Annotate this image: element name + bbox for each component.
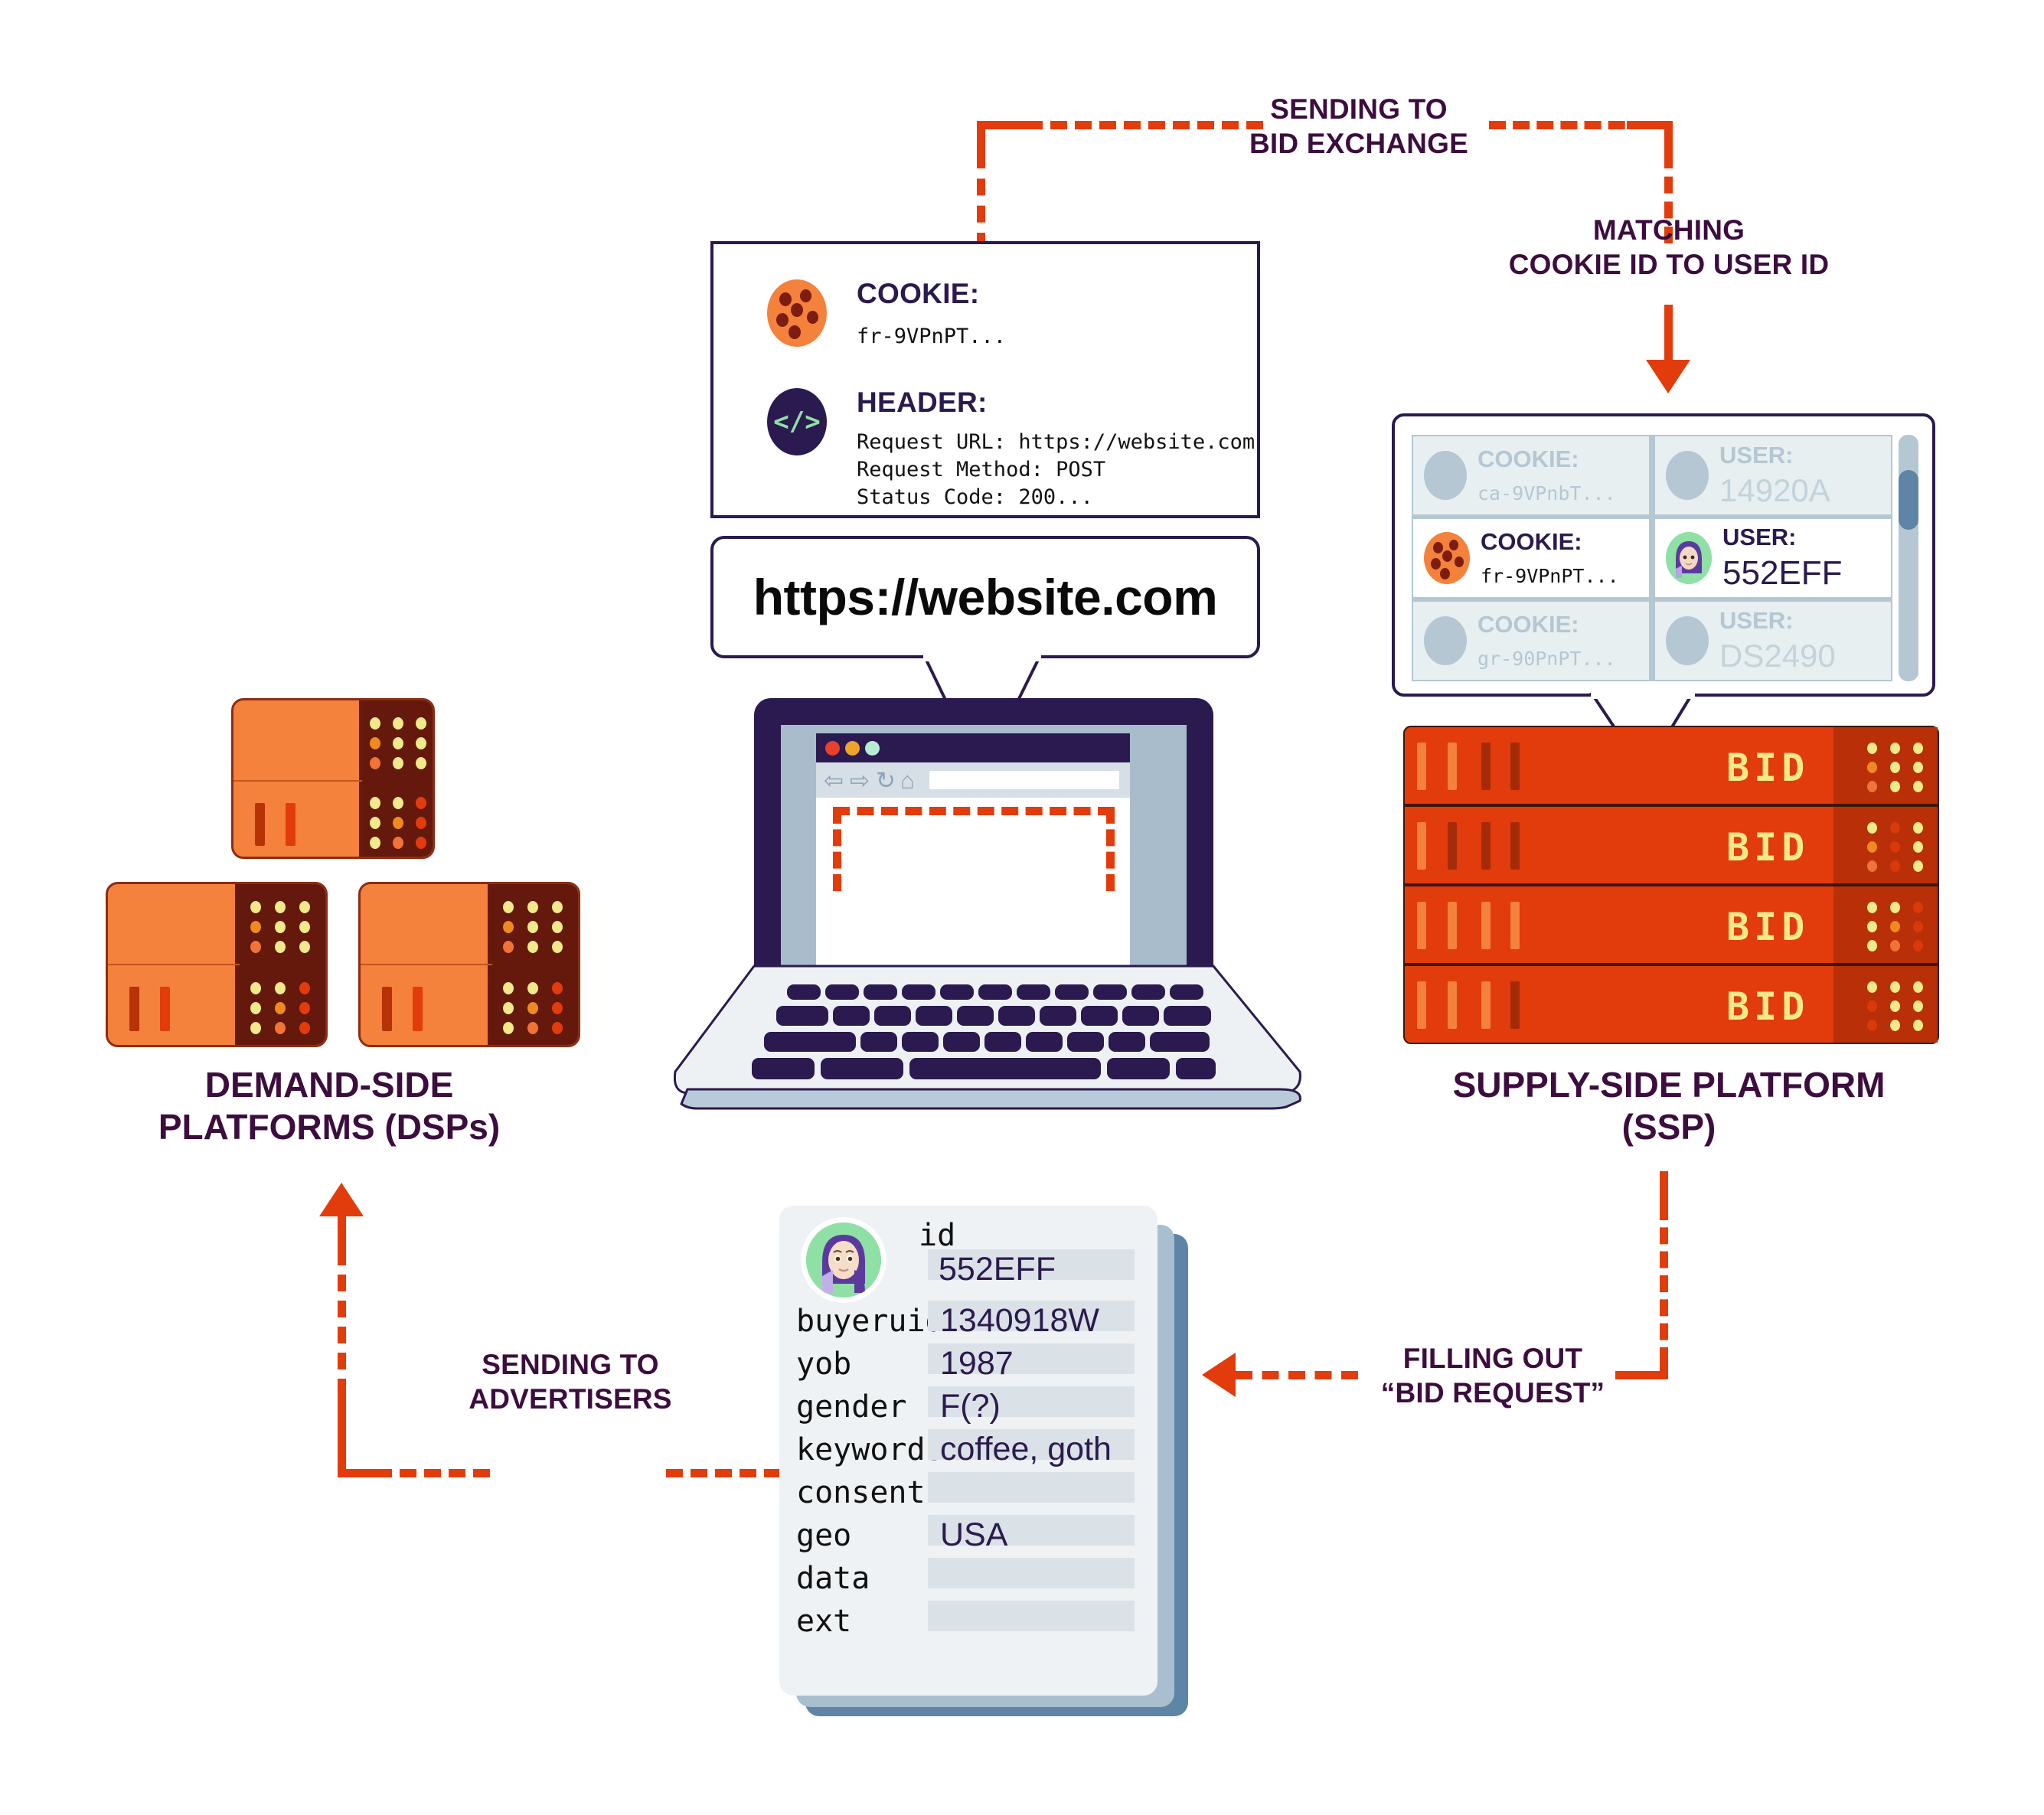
bid-request-key-data: data xyxy=(796,1563,870,1594)
bid-request-value-geo: USA xyxy=(940,1519,1007,1552)
bid-request-key-geo: geo xyxy=(796,1520,851,1551)
label-sending-to-bid-exchange: SENDING TO BID EXCHANGE xyxy=(1248,92,1470,161)
url-speech-bubble: https://website.com xyxy=(710,536,1260,658)
cookie-value: fr-9VPnPT... xyxy=(857,323,1006,351)
arrow-advertisers-up xyxy=(319,1183,364,1216)
flow-line-bidexchange-h1 xyxy=(1026,121,1263,129)
match-table-scrollbar-thumb[interactable] xyxy=(1899,470,1918,530)
traffic-light-minimize-icon[interactable] xyxy=(845,741,860,756)
label-filling-out-bid-request: FILLING OUT “BID REQUEST” xyxy=(1370,1341,1615,1410)
match-cell-user-row3[interactable]: USER: DS2490 xyxy=(1655,602,1891,680)
dsp-server[interactable] xyxy=(358,882,580,1047)
label-sending-to-advertisers: SENDING TO ADVERTISERS xyxy=(425,1347,716,1416)
bid-request-value-yob: 1987 xyxy=(940,1347,1014,1380)
match-label-cookie: COOKIE: xyxy=(1477,447,1616,472)
cookie-title: COOKIE: xyxy=(857,279,1006,308)
cookie-icon xyxy=(1424,532,1470,584)
ssp-server-row[interactable]: BID xyxy=(1403,885,1939,965)
label-line-1: SENDING TO xyxy=(425,1347,716,1382)
bid-request-avatar xyxy=(801,1217,886,1303)
ssp-server-row[interactable]: BID xyxy=(1403,965,1939,1044)
match-value-cookie: ca-9VPnbT... xyxy=(1477,484,1616,504)
user-placeholder-icon xyxy=(1666,616,1709,665)
match-cell-user-row1[interactable]: USER: 14920A xyxy=(1655,436,1891,514)
bid-request-slot-data xyxy=(928,1558,1135,1588)
arrow-match-down xyxy=(1646,360,1690,393)
label-line-2: ADVERTISERS xyxy=(425,1382,716,1416)
match-label-user: USER: xyxy=(1722,525,1843,550)
ssp-caption-line-1: SUPPLY-SIDE PLATFORM xyxy=(1370,1064,1967,1106)
ad-slot-selection xyxy=(833,807,1115,891)
traffic-light-maximize-icon[interactable] xyxy=(865,741,880,756)
back-icon[interactable]: ⇦ xyxy=(824,769,844,792)
bid-request-key-gender: gender xyxy=(796,1392,907,1422)
bid-request-key-keywords: keywords xyxy=(796,1435,944,1465)
flow-line-bidreq-v2 xyxy=(1660,1203,1668,1364)
match-value-user: 14920A xyxy=(1719,474,1830,508)
match-label-user: USER: xyxy=(1719,443,1830,468)
bid-request-key-yob: yob xyxy=(796,1349,851,1379)
ssp-server-row[interactable]: BID xyxy=(1403,726,1939,805)
ssp-caption: SUPPLY-SIDE PLATFORM (SSP) xyxy=(1370,1064,1967,1148)
match-label-user: USER: xyxy=(1719,609,1836,634)
label-line-1: MATCHING xyxy=(1455,213,1883,247)
user-placeholder-icon xyxy=(1666,451,1709,500)
dsp-caption-line-1: DEMAND-SIDE xyxy=(84,1064,574,1106)
flow-line-match-v1 xyxy=(1664,121,1673,152)
browser-window: ⇦ ⇨ ↻ ⌂ xyxy=(816,733,1130,966)
label-line-1: FILLING OUT xyxy=(1370,1341,1615,1376)
ssp-bid-display: BID xyxy=(1726,746,1809,790)
bid-request-value-gender: F(?) xyxy=(940,1390,1001,1423)
match-label-cookie: COOKIE: xyxy=(1481,530,1619,555)
flow-line-bidreq-v1 xyxy=(1660,1171,1668,1203)
ssp-bid-display: BID xyxy=(1726,984,1809,1029)
flow-line-match-v4 xyxy=(1664,335,1673,363)
match-label-cookie: COOKIE: xyxy=(1477,612,1616,638)
user-avatar-icon xyxy=(806,1223,881,1298)
label-line-2: “BID REQUEST” xyxy=(1370,1376,1615,1410)
ssp-caption-line-2: (SSP) xyxy=(1370,1106,1967,1148)
flow-line-bidexchange-corner xyxy=(977,121,1030,129)
match-value-user: DS2490 xyxy=(1719,639,1836,673)
dsp-server[interactable] xyxy=(106,882,328,1047)
label-matching-cookie-to-user: MATCHING COOKIE ID TO USER ID xyxy=(1455,213,1883,282)
forward-icon[interactable]: ⇨ xyxy=(850,769,870,792)
laptop-keyboard[interactable] xyxy=(674,965,1301,1110)
cookie-placeholder-icon xyxy=(1424,451,1467,500)
header-line-method: Request Method: POST xyxy=(857,456,1255,484)
match-value-cookie: gr-90PnPT... xyxy=(1477,649,1616,669)
dsp-caption-line-2: PLATFORMS (DSPs) xyxy=(84,1106,574,1148)
dsp-server[interactable] xyxy=(231,698,435,859)
flow-line-adv-v1 xyxy=(338,1216,346,1249)
bid-request-value-buyeruid: 1340918W xyxy=(940,1304,1099,1337)
header-info-row: </> HEADER: Request URL: https://website… xyxy=(767,388,1255,511)
cookie-placeholder-icon xyxy=(1424,616,1467,665)
match-value-user: 552EFF xyxy=(1722,556,1843,591)
flow-line-adv-h2 xyxy=(666,1469,781,1477)
user-avatar xyxy=(1666,532,1712,584)
header-title: HEADER: xyxy=(857,388,1255,416)
cookie-icon xyxy=(767,279,827,347)
ssp-server-row[interactable]: BID xyxy=(1403,805,1939,885)
bid-request-slot-consent xyxy=(928,1472,1135,1503)
flow-line-bidreq-corner xyxy=(1615,1371,1668,1379)
reload-icon[interactable]: ↻ xyxy=(876,769,896,792)
code-icon: </> xyxy=(767,388,827,455)
match-table-inner: COOKIE: ca-9VPnbT... USER: 14920A xyxy=(1412,435,1892,681)
label-line-2: BID EXCHANGE xyxy=(1248,126,1470,161)
bid-request-key-consent: consent xyxy=(796,1477,926,1508)
header-line-status: Status Code: 200... xyxy=(857,484,1255,511)
flow-line-bidreq-h1 xyxy=(1236,1371,1358,1379)
cookie-user-match-table: COOKIE: ca-9VPnbT... USER: 14920A xyxy=(1392,413,1935,697)
dsp-caption: DEMAND-SIDE PLATFORMS (DSPs) xyxy=(84,1064,574,1148)
traffic-light-close-icon[interactable] xyxy=(825,741,840,756)
bid-request-value-id: 552EFF xyxy=(939,1253,1056,1286)
match-cell-cookie-row3[interactable]: COOKIE: gr-90PnPT... xyxy=(1413,602,1649,680)
home-icon[interactable]: ⌂ xyxy=(900,769,915,792)
programmatic-advertising-diagram: SENDING TO BID EXCHANGE MATCHING COOKIE … xyxy=(0,0,2044,1815)
ssp-server-stack: BID BID xyxy=(1403,726,1939,1046)
bid-request-value-keywords: coffee, goth xyxy=(940,1433,1112,1466)
flow-line-adv-v3 xyxy=(338,1393,346,1477)
label-line-1: SENDING TO xyxy=(1248,92,1470,126)
match-cell-cookie-row1[interactable]: COOKIE: ca-9VPnbT... xyxy=(1413,436,1649,514)
bid-request-slot-ext xyxy=(928,1601,1135,1631)
flow-line-adv-h1 xyxy=(375,1469,490,1477)
url-bubble-text: https://website.com xyxy=(753,568,1218,626)
code-glyph: </> xyxy=(773,406,820,437)
address-bar[interactable] xyxy=(929,771,1119,789)
bid-request-key-id: id xyxy=(919,1220,955,1251)
ssp-bid-display: BID xyxy=(1726,905,1809,949)
match-value-cookie: fr-9VPnPT... xyxy=(1481,566,1619,586)
browser-titlebar xyxy=(816,733,1130,762)
flow-line-match-v3 xyxy=(1664,305,1673,335)
bid-request-key-buyeruid: buyeruid xyxy=(796,1306,944,1337)
match-cell-cookie-row2[interactable]: COOKIE: fr-9VPnPT... xyxy=(1413,519,1649,597)
label-line-2: COOKIE ID TO USER ID xyxy=(1455,247,1883,282)
ssp-bid-display: BID xyxy=(1726,825,1809,870)
arrow-bidreq-left xyxy=(1202,1353,1236,1397)
bid-request-key-ext: ext xyxy=(796,1606,851,1637)
cookie-info-row: COOKIE: fr-9VPnPT... xyxy=(767,279,1006,351)
browser-navbar: ⇦ ⇨ ↻ ⌂ xyxy=(816,762,1130,798)
header-line-url: Request URL: https://website.com xyxy=(857,429,1255,456)
flow-line-bidexchange-v2 xyxy=(977,152,985,250)
match-cell-user-row2[interactable]: USER: 552EFF xyxy=(1655,519,1891,597)
